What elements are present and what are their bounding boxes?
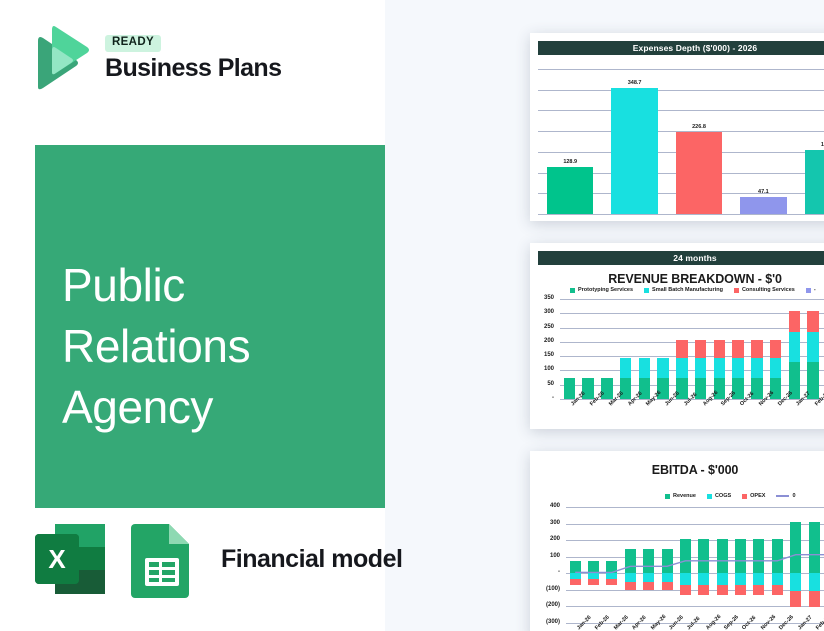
expenses-depth-card[interactable]: Expenses Depth ($'000) - 2026 128.9348.7… bbox=[530, 33, 824, 221]
google-sheets-icon bbox=[125, 520, 199, 598]
gridline bbox=[560, 356, 824, 357]
brand-text-block: READY Business Plans bbox=[105, 35, 281, 81]
y-axis-tick: 300 bbox=[530, 520, 560, 526]
revenue-chart-x-axis: Jan-26Feb-26Mar-26Apr-26May-26Jun-26Jul-… bbox=[560, 401, 824, 429]
bar bbox=[611, 88, 657, 214]
legend-label: Prototyping Services bbox=[578, 287, 633, 293]
gridline bbox=[560, 370, 824, 371]
ebitda-chart-x-axis: Jan-26Feb-26Mar-26Apr-26May-26Jun-26Jul-… bbox=[566, 625, 824, 631]
y-axis-tick: 350 bbox=[530, 295, 554, 301]
play-triangle-logo-icon bbox=[30, 25, 92, 91]
revenue-breakdown-card[interactable]: 24 months REVENUE BREAKDOWN - $'0 Protot… bbox=[530, 243, 824, 429]
expenses-depth-plot: 128.9348.7226.847.1176.5 bbox=[538, 69, 824, 214]
stacked-bar-segment bbox=[676, 340, 688, 357]
bar-data-label: 176.5 bbox=[796, 142, 824, 148]
legend-label: 0 bbox=[792, 493, 795, 499]
y-axis-tick: (300) bbox=[530, 619, 560, 625]
legend-item: Small Batch Manufacturing bbox=[644, 287, 723, 293]
bar bbox=[805, 150, 824, 214]
bar-data-label: 348.7 bbox=[602, 80, 666, 86]
brand-lockup: READY Business Plans bbox=[30, 25, 281, 91]
bar bbox=[547, 167, 593, 214]
stacked-bar-segment bbox=[770, 340, 782, 357]
stacked-bar-segment bbox=[770, 358, 782, 378]
legend-item: Consulting Services bbox=[734, 287, 795, 293]
footer-label: Financial model bbox=[221, 545, 402, 574]
footer-format-row: X Financial model bbox=[33, 520, 402, 598]
y-axis-tick: 200 bbox=[530, 338, 554, 344]
legend-swatch bbox=[644, 288, 649, 293]
stacked-bar-segment bbox=[657, 358, 669, 378]
ebitda-chart-y-axis: 400300200100-(100)(200)(300) bbox=[530, 507, 564, 623]
y-axis-tick: - bbox=[530, 569, 560, 575]
y-axis-tick: 100 bbox=[530, 553, 560, 559]
legend-label: Consulting Services bbox=[742, 287, 795, 293]
legend-swatch bbox=[570, 288, 575, 293]
stacked-bar-segment bbox=[620, 358, 632, 378]
bar-data-label: 47.1 bbox=[731, 189, 795, 195]
bar bbox=[740, 197, 786, 214]
gridline bbox=[538, 110, 824, 111]
stacked-bar-segment bbox=[789, 332, 801, 362]
y-axis-tick: (200) bbox=[530, 602, 560, 608]
stacked-bar-segment bbox=[807, 311, 819, 332]
legend-swatch bbox=[707, 494, 712, 499]
y-axis-tick: 50 bbox=[530, 381, 554, 387]
legend-label: - bbox=[814, 287, 816, 293]
y-axis-tick: 300 bbox=[530, 309, 554, 315]
legend-swatch bbox=[742, 494, 747, 499]
stacked-bar-segment bbox=[639, 358, 651, 378]
expenses-chart-title-band: Expenses Depth ($'000) - 2026 bbox=[538, 41, 824, 55]
stacked-bar-segment bbox=[732, 358, 744, 378]
bar-data-label: 226.8 bbox=[667, 124, 731, 130]
legend-label: Small Batch Manufacturing bbox=[652, 287, 723, 293]
y-axis-tick: 100 bbox=[530, 366, 554, 372]
gridline bbox=[560, 299, 824, 300]
stacked-bar-segment bbox=[751, 340, 763, 357]
ebitda-chart-legend: RevenueCOGSOPEX0 bbox=[665, 493, 796, 499]
revenue-chart-y-axis: 35030025020015010050- bbox=[530, 299, 558, 399]
gridline bbox=[538, 69, 824, 70]
legend-item: - bbox=[806, 287, 816, 293]
stacked-bar-segment bbox=[695, 340, 707, 357]
legend-label: OPEX bbox=[750, 493, 765, 499]
gridline bbox=[538, 214, 824, 215]
stacked-bar-segment bbox=[714, 340, 726, 357]
legend-item: COGS bbox=[707, 493, 731, 499]
stacked-bar-segment bbox=[732, 340, 744, 357]
legend-item: OPEX bbox=[742, 493, 765, 499]
stacked-bar-segment bbox=[714, 358, 726, 378]
y-axis-tick: 200 bbox=[530, 536, 560, 542]
stacked-bar-segment bbox=[807, 332, 819, 362]
brand-title: Business Plans bbox=[105, 56, 281, 81]
ebitda-line-series bbox=[566, 507, 824, 623]
revenue-chart-title: REVENUE BREAKDOWN - $'0 bbox=[530, 272, 824, 286]
poster-canvas: READY Business Plans Public Relations Ag… bbox=[0, 0, 824, 631]
legend-swatch bbox=[776, 495, 789, 497]
legend-item: Prototyping Services bbox=[570, 287, 633, 293]
hero-green-panel: Public Relations Agency bbox=[35, 145, 385, 508]
bar bbox=[676, 132, 722, 214]
legend-swatch bbox=[734, 288, 739, 293]
y-axis-tick: 400 bbox=[530, 503, 560, 509]
y-axis-tick: - bbox=[530, 395, 554, 401]
legend-label: COGS bbox=[715, 493, 731, 499]
stacked-bar-segment bbox=[751, 358, 763, 378]
legend-item: 0 bbox=[776, 493, 795, 499]
ebitda-chart-title: EBITDA - $'000 bbox=[530, 463, 824, 477]
revenue-chart-legend: Prototyping ServicesSmall Batch Manufact… bbox=[570, 287, 816, 293]
ebitda-card[interactable]: EBITDA - $'000 RevenueCOGSOPEX0 Jan-26Fe… bbox=[530, 451, 824, 631]
months-band: 24 months bbox=[538, 251, 824, 265]
ready-badge: READY bbox=[105, 35, 161, 52]
stacked-bar-segment bbox=[676, 358, 688, 378]
svg-text:X: X bbox=[48, 544, 66, 574]
legend-label: Revenue bbox=[673, 493, 696, 499]
legend-swatch bbox=[806, 288, 811, 293]
legend-swatch bbox=[665, 494, 670, 499]
y-axis-tick: (100) bbox=[530, 586, 560, 592]
gridline bbox=[560, 313, 824, 314]
gridline bbox=[560, 328, 824, 329]
y-axis-tick: 250 bbox=[530, 324, 554, 330]
y-axis-tick: 150 bbox=[530, 352, 554, 358]
stacked-bar-segment bbox=[789, 311, 801, 332]
legend-item: Revenue bbox=[665, 493, 696, 499]
stacked-bar-segment bbox=[695, 358, 707, 378]
gridline bbox=[560, 342, 824, 343]
stacked-bar-segment bbox=[564, 378, 576, 399]
revenue-breakdown-plot bbox=[560, 299, 824, 399]
microsoft-excel-icon: X bbox=[33, 520, 107, 598]
bar-data-label: 128.9 bbox=[538, 159, 602, 165]
gridline bbox=[538, 90, 824, 91]
gridline bbox=[560, 385, 824, 386]
page-title: Public Relations Agency bbox=[62, 255, 379, 439]
ebitda-plot bbox=[566, 507, 824, 623]
